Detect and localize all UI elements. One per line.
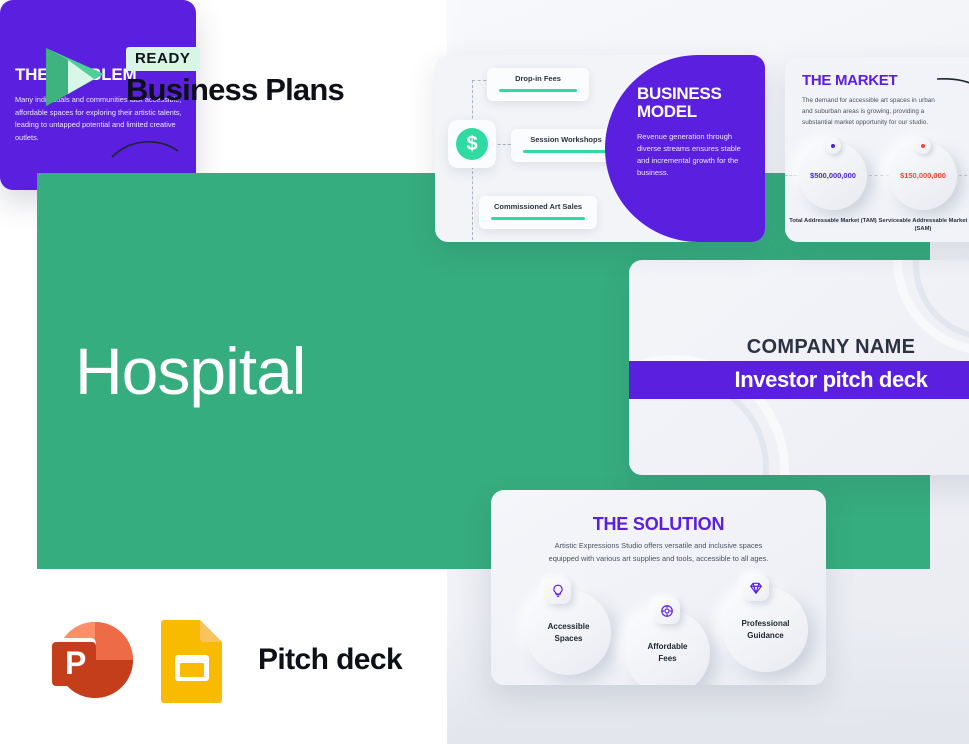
lightbulb-icon — [545, 578, 571, 604]
play-triangle-logo-icon — [38, 38, 112, 116]
solution-bubble-line1: Affordable — [648, 641, 688, 652]
revenue-stream-bar — [499, 89, 577, 92]
pitch-deck-label: Pitch deck — [258, 643, 402, 677]
market-metric-value: $500,000,000 — [799, 171, 867, 180]
market-metric-value: $150,000,000 — [889, 171, 957, 180]
solution-bubble-line2: Fees — [648, 653, 688, 664]
brand-logo: READY Business Plans — [38, 38, 344, 116]
solution-description: Artistic Expressions Studio offers versa… — [539, 540, 779, 565]
market-description: The demand for accessible art spaces in … — [802, 95, 942, 128]
diamond-icon — [743, 575, 769, 601]
business-model-title-line2: MODEL — [637, 103, 751, 121]
revenue-stream-label: Commissioned Art Sales — [491, 202, 585, 211]
business-model-description: Revenue generation through diverse strea… — [637, 131, 751, 180]
svg-text:P: P — [65, 645, 86, 681]
ready-badge: READY — [126, 47, 200, 71]
market-title: THE MARKET — [802, 72, 897, 89]
google-slides-icon — [158, 617, 226, 703]
revenue-stream-label: Drop-in Fees — [499, 74, 577, 83]
product-footer: P Pitch deck — [40, 612, 402, 708]
brand-logo-text: READY Business Plans — [126, 47, 344, 107]
powerpoint-icon: P — [40, 612, 136, 708]
market-metric-caption: Total Addressable Market (TAM) — [785, 217, 881, 225]
revenue-stream-label: Session Workshops — [523, 135, 609, 144]
brand-name: Business Plans — [126, 74, 344, 107]
solution-bubble-line2: Guidance — [741, 630, 789, 641]
solution-bubble-line2: Spaces — [548, 633, 590, 644]
dollar-icon: $ — [456, 128, 488, 160]
market-metric-caption: Serviceable Addressable Market (SAM) — [875, 217, 969, 234]
slide-solution[interactable]: THE SOLUTION Artistic Expressions Studio… — [491, 490, 826, 685]
curved-arrow-icon — [110, 135, 180, 165]
revenue-stream-card[interactable]: Commissioned Art Sales — [479, 196, 597, 229]
dollar-icon-tile: $ — [448, 120, 496, 168]
solution-title: THE SOLUTION — [491, 514, 826, 535]
target-icon — [654, 598, 680, 624]
slide-business-model[interactable]: $ Drop-in Fees Session Workshops Commiss… — [435, 55, 765, 242]
business-model-title-line1: BUSINESS — [637, 85, 751, 103]
solution-bubble[interactable]: Professional Guidance — [723, 587, 808, 672]
investor-pitch-band: Investor pitch deck — [629, 361, 969, 399]
market-metric-circle: $500,000,000 — [799, 142, 867, 210]
revenue-stream-bar — [491, 217, 585, 220]
investor-pitch-label: Investor pitch deck — [735, 367, 928, 393]
market-metric-circle: $150,000,000 — [889, 142, 957, 210]
slide-company-name[interactable]: COMPANY NAME Investor pitch deck — [629, 260, 969, 475]
business-model-title: BUSINESS MODEL — [637, 85, 751, 122]
company-name-title: COMPANY NAME — [629, 336, 969, 359]
market-dash-mid — [869, 175, 889, 176]
solution-bubble[interactable]: Accessible Spaces — [526, 590, 611, 675]
market-metric-dot — [825, 138, 841, 154]
revenue-stream-bar — [523, 150, 609, 153]
solution-bubble-line1: Professional — [741, 618, 789, 629]
page-title: Hospital — [75, 338, 305, 404]
curved-arrow-icon — [935, 75, 969, 119]
market-metric-dot — [915, 138, 931, 154]
market-dash-right — [959, 175, 969, 176]
solution-bubble-line1: Accessible — [548, 621, 590, 632]
revenue-stream-card[interactable]: Drop-in Fees — [487, 68, 589, 101]
slide-market[interactable]: THE MARKET The demand for accessible art… — [785, 57, 969, 242]
